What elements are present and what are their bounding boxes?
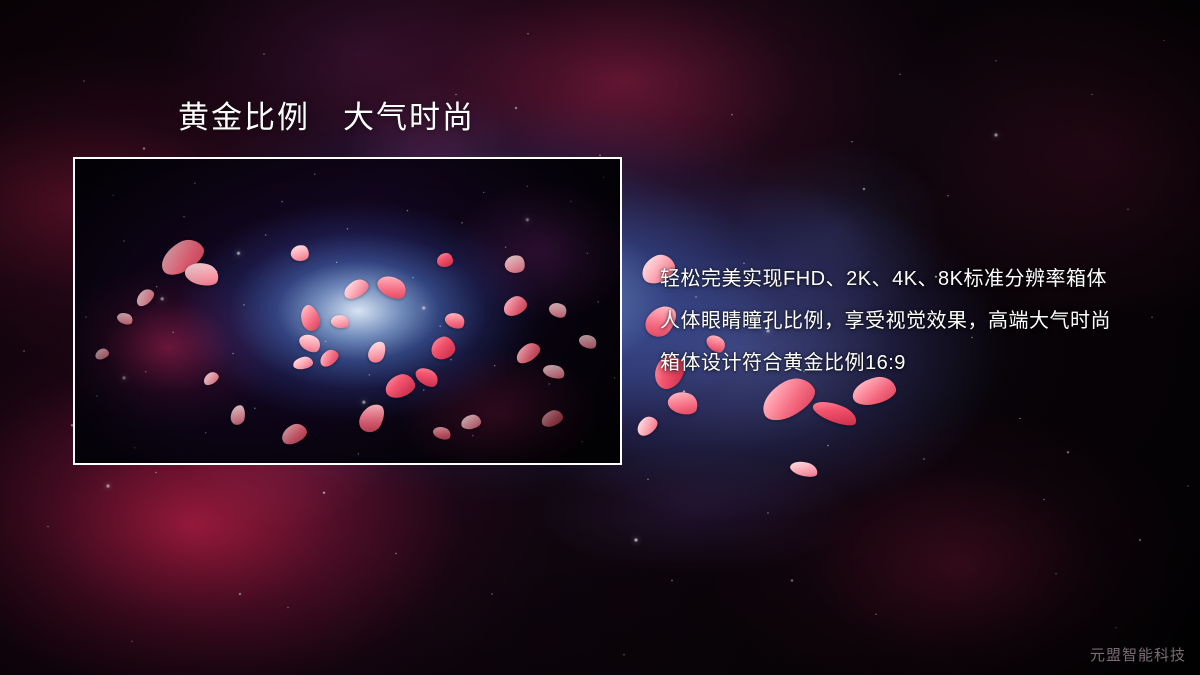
feature-line: 箱体设计符合黄金比例16:9 [660,342,1111,384]
feature-line: 轻松完美实现FHD、2K、4K、8K标准分辨率箱体 [660,258,1111,300]
presentation-slide: 黄金比例 大气时尚 轻松完美实现FHD、2K、4K、8K标准分辨率箱体 人体眼睛… [0,0,1200,675]
panel-vignette [75,159,620,463]
feature-line: 人体眼睛瞳孔比例，享受视觉效果，高端大气时尚 [660,300,1111,342]
watermark-brand: 元盟智能科技 [1090,644,1186,665]
feature-description: 轻松完美实现FHD、2K、4K、8K标准分辨率箱体 人体眼睛瞳孔比例，享受视觉效… [660,258,1111,384]
petals-galaxy-image-frame [73,157,622,465]
page-title: 黄金比例 大气时尚 [178,101,475,135]
